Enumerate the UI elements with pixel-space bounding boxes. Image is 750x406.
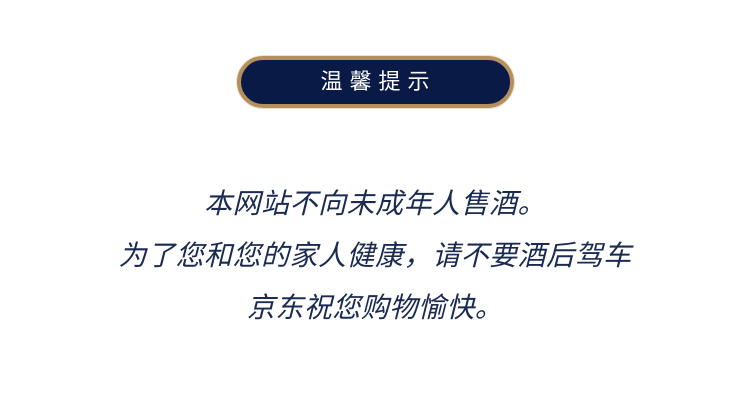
badge-container: 温馨提示 [0, 56, 750, 108]
age-restriction-notice-panel: 温馨提示 本网站不向未成年人售酒。 为了您和您的家人健康，请不要酒后驾车 京东祝… [0, 0, 750, 406]
notice-badge-label: 温馨提示 [313, 71, 436, 93]
notice-badge: 温馨提示 [237, 56, 514, 108]
notice-message-block: 本网站不向未成年人售酒。 为了您和您的家人健康，请不要酒后驾车 京东祝您购物愉快… [0, 178, 750, 334]
notice-message-line-2: 为了您和您的家人健康，请不要酒后驾车 [118, 230, 631, 282]
notice-message-line-3: 京东祝您购物愉快。 [247, 282, 504, 334]
notice-message-line-1: 本网站不向未成年人售酒。 [204, 178, 546, 230]
